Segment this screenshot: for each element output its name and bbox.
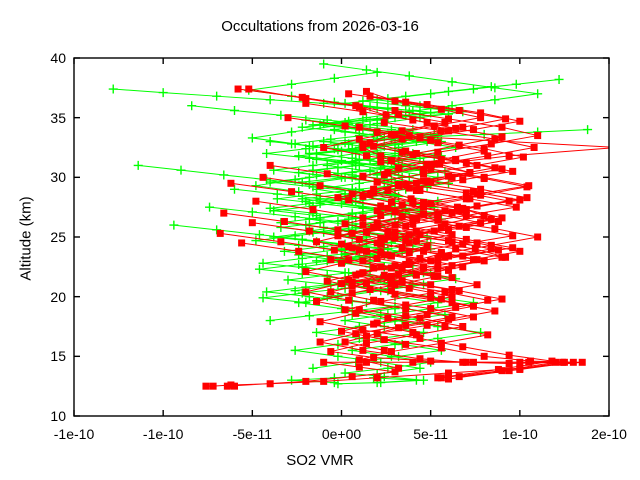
data-point — [534, 132, 541, 139]
data-point — [374, 319, 381, 326]
data-point — [313, 298, 320, 305]
data-point — [420, 265, 427, 272]
data-point — [506, 352, 513, 359]
data-point — [381, 119, 388, 126]
data-point — [317, 182, 324, 189]
data-point — [134, 161, 143, 170]
data-point — [402, 341, 409, 348]
data-point — [512, 80, 521, 89]
data-point — [352, 310, 359, 317]
y-tick-label: 15 — [28, 348, 66, 364]
data-point — [359, 193, 366, 200]
data-point — [459, 176, 466, 183]
data-point — [434, 266, 441, 273]
data-point — [406, 185, 413, 192]
data-point — [334, 226, 341, 233]
data-point — [235, 86, 242, 93]
data-point — [506, 360, 513, 367]
y-tick-label: 30 — [28, 169, 66, 185]
plot-canvas — [0, 0, 640, 480]
data-point — [406, 261, 413, 268]
data-point — [305, 311, 314, 320]
data-point — [523, 183, 530, 190]
data-point — [399, 278, 406, 285]
data-point — [359, 214, 366, 221]
data-point — [374, 374, 381, 381]
data-point — [520, 154, 527, 161]
data-point — [438, 127, 445, 134]
data-point — [534, 234, 541, 241]
data-point — [459, 124, 466, 131]
data-point — [309, 206, 316, 213]
x-tick-label: -5e-11 — [233, 426, 272, 442]
data-point — [381, 251, 388, 258]
data-point — [583, 125, 592, 134]
plot-area — [0, 0, 640, 480]
data-point — [438, 224, 445, 231]
data-point — [484, 297, 491, 304]
data-point — [509, 232, 516, 239]
data-point — [449, 299, 456, 306]
data-point — [392, 107, 399, 114]
data-point — [377, 241, 384, 248]
data-point — [481, 257, 488, 264]
data-point — [392, 291, 399, 298]
data-point — [509, 168, 516, 175]
data-point — [531, 144, 538, 151]
data-point — [342, 123, 349, 130]
data-point — [420, 211, 427, 218]
x-tick-label: 5e-11 — [413, 426, 448, 442]
data-point — [395, 365, 402, 372]
data-point — [490, 95, 499, 104]
data-point — [416, 355, 423, 362]
data-point — [484, 152, 491, 159]
x-tick-label: -1e-10 — [54, 426, 94, 442]
data-point — [427, 358, 434, 365]
data-point — [463, 236, 470, 243]
data-point — [516, 359, 523, 366]
data-point — [320, 359, 327, 366]
data-point — [463, 189, 470, 196]
data-point — [324, 278, 331, 285]
data-point — [252, 198, 259, 205]
data-point — [230, 106, 239, 115]
data-point — [370, 143, 377, 150]
data-point — [424, 243, 431, 250]
data-point — [444, 87, 453, 96]
data-point — [334, 194, 341, 201]
data-point — [499, 133, 506, 140]
data-point — [367, 191, 374, 198]
data-point — [356, 356, 363, 363]
data-point — [267, 380, 274, 387]
data-point — [220, 210, 227, 217]
data-point — [415, 364, 424, 373]
data-point — [205, 203, 214, 212]
data-point — [516, 248, 523, 255]
data-point — [399, 127, 406, 134]
data-point — [334, 232, 341, 239]
data-point — [388, 348, 395, 355]
data-point — [227, 180, 234, 187]
data-point — [413, 228, 420, 235]
data-point — [349, 290, 356, 297]
data-point — [359, 140, 366, 147]
data-point — [349, 373, 356, 380]
data-point — [317, 318, 324, 325]
data-point — [356, 124, 363, 131]
data-point — [217, 230, 224, 237]
data-point — [413, 187, 420, 194]
series-green-profiles — [109, 59, 592, 388]
data-point — [474, 202, 481, 209]
data-point — [374, 219, 381, 226]
data-point — [449, 293, 456, 300]
data-point — [352, 102, 359, 109]
data-point — [416, 335, 423, 342]
y-tick-label: 10 — [28, 408, 66, 424]
data-point — [614, 144, 621, 151]
data-point — [445, 226, 452, 233]
x-tick-label: 1e-10 — [502, 426, 538, 442]
data-point — [570, 359, 577, 366]
data-point — [438, 344, 445, 351]
x-tick-label: -1e-10 — [143, 426, 183, 442]
data-point — [277, 238, 284, 245]
data-point — [395, 324, 402, 331]
data-point — [466, 195, 473, 202]
data-point — [559, 359, 566, 366]
data-point — [330, 74, 339, 83]
data-point — [159, 88, 168, 97]
data-point — [320, 378, 327, 385]
data-point — [327, 288, 334, 295]
data-point — [377, 158, 384, 165]
y-tick-label: 40 — [28, 50, 66, 66]
data-point — [445, 316, 452, 323]
data-point — [302, 100, 309, 107]
data-point — [409, 199, 416, 206]
data-point — [481, 353, 488, 360]
data-point — [424, 311, 431, 318]
data-point — [459, 253, 466, 260]
data-point — [488, 216, 495, 223]
data-point — [513, 204, 520, 211]
plot-figure: Occultations from 2026-03-16 SO2 VMR Alt… — [0, 0, 640, 480]
data-point — [202, 383, 209, 390]
data-point — [312, 328, 321, 337]
data-point — [273, 194, 282, 203]
data-point — [345, 297, 352, 304]
x-tick-label: 0e+00 — [322, 426, 361, 442]
data-point — [434, 374, 441, 381]
data-point — [177, 166, 186, 175]
data-point — [409, 151, 416, 158]
data-point — [345, 243, 352, 250]
data-point — [438, 249, 445, 256]
data-point — [402, 322, 409, 329]
data-point — [406, 285, 413, 292]
data-point — [248, 207, 257, 216]
data-point — [238, 239, 245, 246]
data-point — [331, 247, 338, 254]
data-point — [359, 173, 366, 180]
data-point — [169, 221, 178, 230]
data-point — [260, 174, 267, 181]
data-point — [509, 244, 516, 251]
data-point — [477, 186, 484, 193]
data-point — [373, 68, 382, 77]
data-point — [266, 316, 275, 325]
data-point — [313, 238, 320, 245]
data-point — [288, 188, 295, 195]
data-point — [287, 127, 296, 136]
x-tick-label: 2e-10 — [591, 426, 627, 442]
data-point — [484, 331, 491, 338]
data-point — [338, 241, 345, 248]
data-point — [445, 115, 452, 122]
data-point — [434, 273, 441, 280]
data-point — [109, 85, 118, 94]
data-point — [548, 358, 555, 365]
data-point — [308, 364, 317, 373]
data-point — [284, 275, 293, 284]
data-point — [427, 281, 434, 288]
data-point — [516, 118, 523, 125]
data-point — [291, 346, 300, 355]
data-point — [338, 260, 345, 267]
data-point — [516, 197, 523, 204]
data-point — [377, 212, 384, 219]
data-point — [324, 170, 331, 177]
data-point — [280, 247, 289, 256]
data-point — [281, 218, 288, 225]
data-point — [333, 217, 342, 226]
data-point — [248, 133, 257, 142]
data-point — [359, 269, 366, 276]
data-point — [294, 151, 303, 160]
data-point — [463, 160, 470, 167]
data-point — [409, 117, 416, 124]
data-point — [434, 139, 441, 146]
data-point — [302, 268, 309, 275]
y-tick-label: 35 — [28, 110, 66, 126]
data-point — [413, 216, 420, 223]
data-point — [262, 149, 271, 158]
data-point — [249, 219, 256, 226]
data-point — [448, 77, 457, 86]
data-point — [251, 181, 260, 190]
data-point — [555, 75, 564, 84]
data-point — [491, 225, 498, 232]
data-point — [267, 162, 274, 169]
data-point — [345, 276, 352, 283]
y-tick-label: 20 — [28, 289, 66, 305]
data-point — [363, 333, 370, 340]
data-point — [295, 248, 302, 255]
data-point — [245, 86, 252, 93]
data-point — [266, 95, 275, 104]
data-point — [342, 339, 349, 346]
data-point — [341, 316, 350, 325]
data-point — [356, 364, 363, 371]
data-point — [392, 208, 399, 215]
data-point — [427, 137, 434, 144]
data-point — [402, 302, 409, 309]
data-point — [452, 245, 459, 252]
y-tick-label: 25 — [28, 229, 66, 245]
data-point — [287, 80, 296, 89]
data-point — [359, 347, 366, 354]
data-point — [392, 131, 399, 138]
data-point — [359, 108, 366, 115]
data-point — [377, 235, 384, 242]
data-point — [212, 92, 221, 101]
data-point — [306, 228, 313, 235]
data-point — [359, 327, 366, 334]
data-point — [399, 201, 406, 208]
data-point — [424, 101, 431, 108]
data-point — [405, 71, 414, 80]
data-point — [285, 114, 292, 121]
data-point — [495, 366, 502, 373]
data-point — [416, 134, 423, 141]
data-point — [431, 161, 438, 168]
data-point — [317, 339, 324, 346]
data-point — [384, 232, 391, 239]
data-point — [187, 101, 196, 110]
data-point — [491, 307, 498, 314]
data-point — [327, 348, 334, 355]
data-point — [579, 359, 586, 366]
data-point — [495, 218, 502, 225]
data-point — [420, 170, 427, 177]
data-point — [227, 381, 234, 388]
data-point — [342, 220, 349, 227]
data-point — [319, 59, 328, 68]
data-point — [523, 194, 530, 201]
data-point — [363, 152, 370, 159]
data-point — [219, 170, 228, 179]
data-point — [384, 169, 391, 176]
data-point — [302, 288, 309, 295]
data-point — [338, 328, 345, 335]
data-point — [412, 376, 421, 385]
data-point — [320, 144, 327, 151]
data-point — [349, 282, 356, 289]
data-point — [474, 281, 481, 288]
data-point — [491, 136, 498, 143]
data-point — [449, 286, 456, 293]
data-point — [266, 137, 275, 146]
data-point — [424, 177, 431, 184]
data-point — [533, 89, 542, 98]
data-point — [377, 298, 384, 305]
data-point — [370, 354, 377, 361]
data-point — [499, 296, 506, 303]
data-point — [445, 370, 452, 377]
data-point — [477, 109, 484, 116]
data-point — [470, 126, 477, 133]
data-point — [299, 94, 306, 101]
data-point — [367, 93, 374, 100]
data-point — [345, 90, 352, 97]
data-point — [470, 359, 477, 366]
data-point — [416, 315, 423, 322]
data-point — [302, 378, 309, 385]
data-point — [210, 383, 217, 390]
data-point — [363, 340, 370, 347]
data-point — [459, 343, 466, 350]
data-point — [449, 174, 456, 181]
data-point — [276, 111, 285, 120]
data-point — [456, 107, 463, 114]
data-point — [459, 323, 466, 330]
